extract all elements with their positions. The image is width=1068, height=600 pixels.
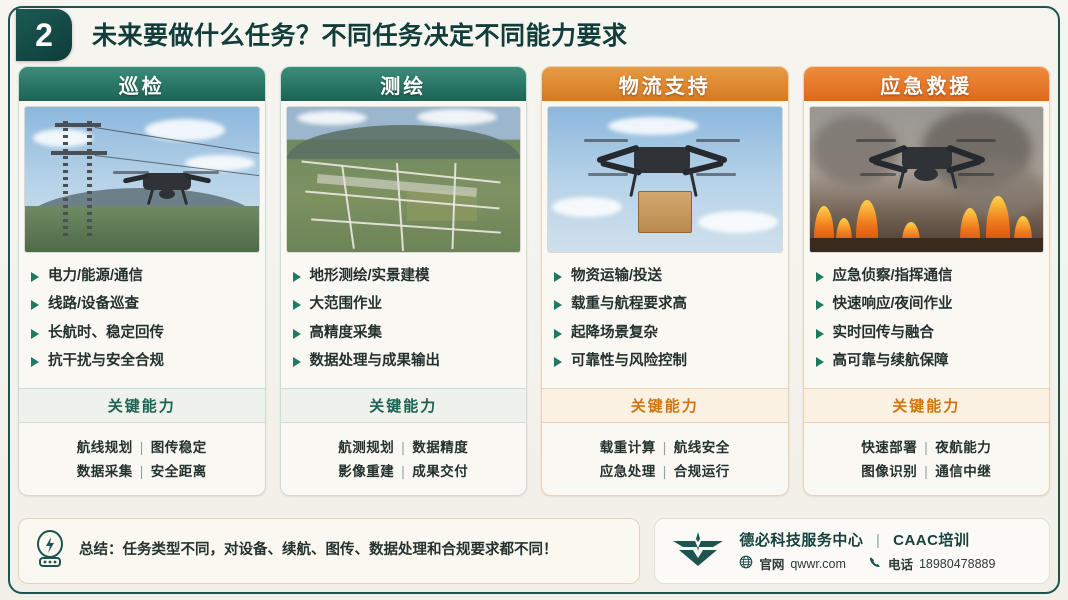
website-label: 官网 [759, 554, 784, 573]
phone-value[interactable]: 18980478889 [919, 557, 995, 571]
brand-program: CAAC培训 [893, 532, 969, 549]
key-capability-row: 图像识别|通信中继 [814, 460, 1040, 480]
triangle-bullet-icon [554, 300, 562, 310]
card-bullets: 电力/能源/通信 线路/设备巡查 长航时、稳定回传 抗干扰与安全合规 [19, 258, 265, 388]
card-title: 巡检 [19, 67, 265, 101]
brand-title-row: 德必科技服务中心 | CAAC培训 [739, 529, 995, 550]
triangle-bullet-icon [293, 329, 301, 339]
triangle-bullet-icon [816, 300, 824, 310]
card-image-powerline-inspection [24, 106, 260, 253]
triangle-bullet-icon [293, 272, 301, 282]
bullet-item: 高可靠与续航保障 [816, 353, 1038, 370]
bullet-item: 应急侦察/指挥通信 [816, 268, 1038, 285]
key-capability-row: 影像重建|成果交付 [291, 460, 517, 480]
phone-icon [868, 555, 882, 572]
website-value[interactable]: qwwr.com [790, 557, 846, 571]
bullet-item: 物资运输/投送 [554, 268, 776, 285]
card-image-aerial-survey [286, 106, 522, 253]
wings-logo-icon [669, 528, 727, 575]
bullet-item: 电力/能源/通信 [31, 268, 253, 285]
header: 2 未来要做什么任务？不同任务决定不同能力要求 [6, 6, 1062, 62]
triangle-bullet-icon [31, 357, 39, 367]
card-image-wildfire-rescue [809, 106, 1045, 253]
triangle-bullet-icon [554, 357, 562, 367]
card-title: 物流支持 [542, 67, 788, 101]
bullet-item: 高精度采集 [293, 325, 515, 342]
key-capability-list: 载重计算|航线安全 应急处理|合规运行 [542, 423, 788, 495]
task-card-list: 巡检 [18, 66, 1050, 496]
globe-icon [739, 555, 753, 572]
bullet-item: 抗干扰与安全合规 [31, 353, 253, 370]
card-image-delivery-drone [547, 106, 783, 253]
key-capability-label: 关键能力 [542, 388, 788, 423]
card-bullets: 应急侦察/指挥通信 快速响应/夜间作业 实时回传与融合 高可靠与续航保障 [804, 258, 1050, 388]
triangle-bullet-icon [31, 329, 39, 339]
task-card-inspection[interactable]: 巡检 [18, 66, 266, 496]
triangle-bullet-icon [293, 357, 301, 367]
triangle-bullet-icon [293, 300, 301, 310]
bullet-item: 大范围作业 [293, 296, 515, 313]
bullet-item: 载重与航程要求高 [554, 296, 776, 313]
footer: 总结：任务类型不同，对设备、续航、图传、数据处理和合规要求都不同！ 德必科技服务… [18, 518, 1050, 584]
card-title: 测绘 [281, 67, 527, 101]
triangle-bullet-icon [816, 329, 824, 339]
key-capability-list: 航测规划|数据精度 影像重建|成果交付 [281, 423, 527, 495]
brand-name: 德必科技服务中心 [739, 532, 863, 549]
key-capability-list: 航线规划|图传稳定 数据采集|安全距离 [19, 423, 265, 495]
section-number-badge: 2 [16, 9, 72, 61]
task-card-surveying[interactable]: 测绘 地形测绘/实景建模 大范围作业 高精度采集 数据处理与 [280, 66, 528, 496]
triangle-bullet-icon [554, 272, 562, 282]
triangle-bullet-icon [816, 272, 824, 282]
bullet-item: 地形测绘/实景建模 [293, 268, 515, 285]
brand-box: 德必科技服务中心 | CAAC培训 官网 qwwr.com [654, 518, 1050, 584]
key-capability-label: 关键能力 [19, 388, 265, 423]
triangle-bullet-icon [31, 300, 39, 310]
key-capability-row: 航测规划|数据精度 [291, 436, 517, 456]
task-card-emergency-rescue[interactable]: 应急救援 [803, 66, 1051, 496]
triangle-bullet-icon [31, 272, 39, 282]
poster: 2 未来要做什么任务？不同任务决定不同能力要求 巡检 [0, 0, 1068, 600]
bullet-item: 快速响应/夜间作业 [816, 296, 1038, 313]
key-capability-row: 载重计算|航线安全 [552, 436, 778, 456]
key-capability-row: 数据采集|安全距离 [29, 460, 255, 480]
card-title: 应急救援 [804, 67, 1050, 101]
bullet-item: 实时回传与融合 [816, 325, 1038, 342]
bullet-item: 线路/设备巡查 [31, 296, 253, 313]
summary-box: 总结：任务类型不同，对设备、续航、图传、数据处理和合规要求都不同！ [18, 518, 640, 584]
triangle-bullet-icon [816, 357, 824, 367]
key-capability-label: 关键能力 [804, 388, 1050, 423]
brand-contact-row: 官网 qwwr.com 电话 18980478889 [739, 554, 995, 573]
brand-divider: | [876, 532, 880, 549]
bullet-item: 数据处理与成果输出 [293, 353, 515, 370]
bullet-item: 可靠性与风险控制 [554, 353, 776, 370]
key-capability-row: 快速部署|夜航能力 [814, 436, 1040, 456]
key-capability-row: 航线规划|图传稳定 [29, 436, 255, 456]
summary-text: 总结：任务类型不同，对设备、续航、图传、数据处理和合规要求都不同！ [79, 540, 558, 562]
card-bullets: 物资运输/投送 载重与航程要求高 起降场景复杂 可靠性与风险控制 [542, 258, 788, 388]
key-capability-list: 快速部署|夜航能力 图像识别|通信中继 [804, 423, 1050, 495]
idea-bulb-icon [33, 529, 67, 574]
triangle-bullet-icon [554, 329, 562, 339]
page-title: 未来要做什么任务？不同任务决定不同能力要求 [92, 16, 628, 52]
phone-label: 电话 [888, 554, 913, 573]
task-card-logistics[interactable]: 物流支持 [541, 66, 789, 496]
bullet-item: 长航时、稳定回传 [31, 325, 253, 342]
key-capability-label: 关键能力 [281, 388, 527, 423]
bullet-item: 起降场景复杂 [554, 325, 776, 342]
key-capability-row: 应急处理|合规运行 [552, 460, 778, 480]
card-bullets: 地形测绘/实景建模 大范围作业 高精度采集 数据处理与成果输出 [281, 258, 527, 388]
